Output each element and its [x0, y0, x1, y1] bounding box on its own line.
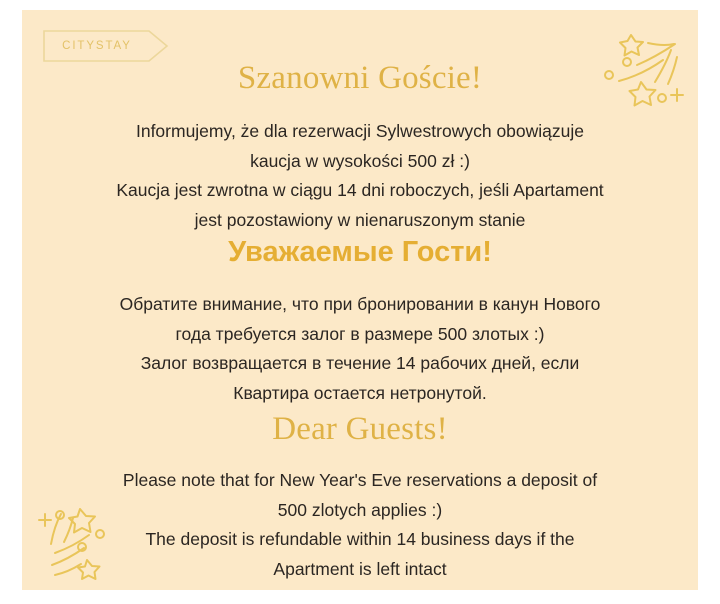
- body-line: Kaucja jest zwrotna w ciągu 14 dni roboc…: [82, 176, 638, 206]
- body-line: jest pozostawiony w nienaruszonym stanie: [82, 206, 638, 236]
- announcement-card: CITYSTAY: [22, 10, 698, 590]
- body-line: Please note that for New Year's Eve rese…: [82, 466, 638, 496]
- body-line: года требуется залог в размере 500 злоты…: [72, 320, 648, 350]
- heading-russian: Уважаемые Гости!: [22, 236, 698, 269]
- body-english: Please note that for New Year's Eve rese…: [82, 466, 638, 584]
- heading-polish: Szanowni Goście!: [22, 60, 698, 97]
- body-line: Informujemy, że dla rezerwacji Sylwestro…: [82, 117, 638, 147]
- brand-logo: CITYSTAY: [43, 30, 169, 62]
- body-russian: Обратите внимание, что при бронировании …: [72, 290, 648, 408]
- body-line: The deposit is refundable within 14 busi…: [82, 525, 638, 555]
- heading-english: Dear Guests!: [22, 411, 698, 448]
- body-line: Обратите внимание, что при бронировании …: [72, 290, 648, 320]
- brand-logo-text: CITYSTAY: [43, 30, 151, 62]
- body-polish: Informujemy, że dla rezerwacji Sylwestro…: [82, 117, 638, 235]
- body-line: Квартира остается нетронутой.: [72, 379, 648, 409]
- body-line: Залог возвращается в течение 14 рабочих …: [72, 349, 648, 379]
- body-line: Apartment is left intact: [82, 555, 638, 585]
- body-line: 500 zlotych applies :): [82, 496, 638, 526]
- body-line: kaucja w wysokości 500 zł :): [82, 147, 638, 177]
